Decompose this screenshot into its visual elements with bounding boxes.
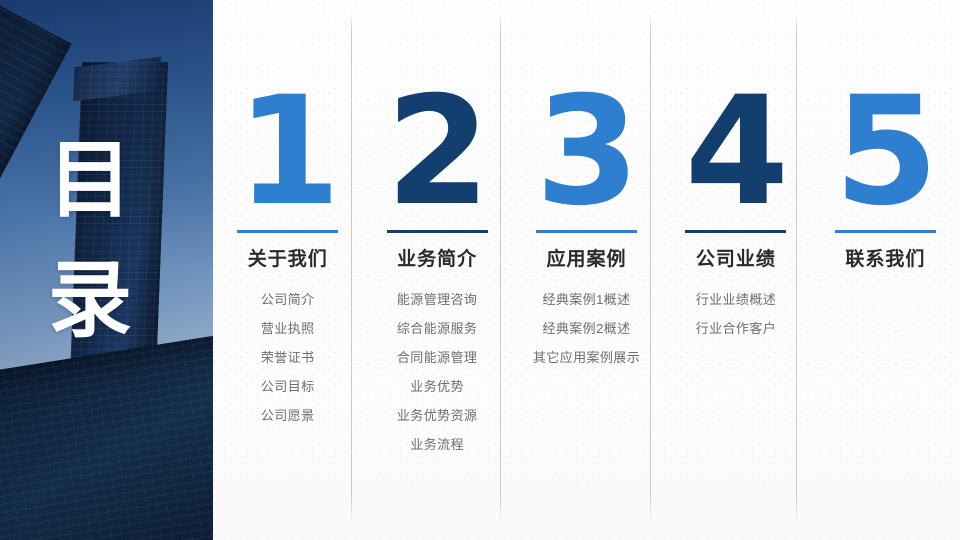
list-item[interactable]: 经典案例2概述 — [542, 314, 630, 343]
agenda-column-2[interactable]: 2 业务简介 能源管理咨询 综合能源服务 合同能源管理 业务优势 业务优势资源 … — [362, 0, 511, 540]
agenda-column-3[interactable]: 3 应用案例 经典案例1概述 经典案例2概述 其它应用案例展示 — [512, 0, 661, 540]
agenda-items-1: 公司简介 营业执照 荣誉证书 公司目标 公司愿景 — [261, 285, 315, 430]
list-item[interactable]: 能源管理咨询 — [397, 285, 477, 314]
agenda-column-4[interactable]: 4 公司业绩 行业业绩概述 行业合作客户 — [661, 0, 810, 540]
list-item[interactable]: 公司简介 — [261, 285, 315, 314]
agenda-items-4: 行业业绩概述 行业合作客户 — [696, 285, 776, 343]
list-item[interactable]: 综合能源服务 — [397, 314, 477, 343]
skyscraper-photo-panel: 目 录 — [0, 0, 213, 540]
agenda-rule-2 — [387, 230, 488, 233]
agenda-columns: 1 关于我们 公司简介 营业执照 荣誉证书 公司目标 公司愿景 2 业务简介 能… — [213, 0, 960, 540]
list-item[interactable]: 荣誉证书 — [261, 343, 315, 372]
agenda-title-4[interactable]: 公司业绩 — [696, 249, 776, 271]
agenda-rule-1 — [237, 230, 338, 233]
agenda-number-4: 4 — [685, 88, 787, 216]
agenda-number-5: 5 — [834, 88, 936, 216]
agenda-number-1: 1 — [237, 88, 339, 216]
list-item[interactable]: 其它应用案例展示 — [533, 343, 640, 372]
page-title-char-1: 目 — [48, 120, 144, 240]
list-item[interactable]: 合同能源管理 — [397, 343, 477, 372]
agenda-number-3: 3 — [535, 88, 637, 216]
page-title-char-2: 录 — [48, 240, 144, 360]
slide-canvas: 目 录 1 关于我们 公司简介 营业执照 荣誉证书 公司目标 公司愿景 2 业务… — [0, 0, 960, 540]
agenda-rule-3 — [536, 230, 637, 233]
agenda-column-1[interactable]: 1 关于我们 公司简介 营业执照 荣誉证书 公司目标 公司愿景 — [213, 0, 362, 540]
agenda-title-1[interactable]: 关于我们 — [248, 249, 328, 271]
agenda-items-2: 能源管理咨询 综合能源服务 合同能源管理 业务优势 业务优势资源 业务流程 — [397, 285, 477, 459]
agenda-column-5[interactable]: 5 联系我们 — [811, 0, 960, 540]
list-item[interactable]: 行业合作客户 — [696, 314, 776, 343]
agenda-title-3[interactable]: 应用案例 — [547, 249, 627, 271]
list-item[interactable]: 业务流程 — [410, 430, 464, 459]
list-item[interactable]: 业务优势 — [410, 372, 464, 401]
agenda-rule-5 — [835, 230, 936, 233]
list-item[interactable]: 公司愿景 — [261, 401, 315, 430]
list-item[interactable]: 行业业绩概述 — [696, 285, 776, 314]
agenda-title-5[interactable]: 联系我们 — [845, 249, 925, 271]
agenda-number-2: 2 — [386, 88, 488, 216]
list-item[interactable]: 营业执照 — [261, 314, 315, 343]
list-item[interactable]: 公司目标 — [261, 372, 315, 401]
agenda-items-3: 经典案例1概述 经典案例2概述 其它应用案例展示 — [533, 285, 640, 372]
page-title: 目 录 — [48, 120, 144, 360]
list-item[interactable]: 经典案例1概述 — [542, 285, 630, 314]
list-item[interactable]: 业务优势资源 — [397, 401, 477, 430]
agenda-rule-4 — [685, 230, 786, 233]
agenda-title-2[interactable]: 业务简介 — [397, 249, 477, 271]
